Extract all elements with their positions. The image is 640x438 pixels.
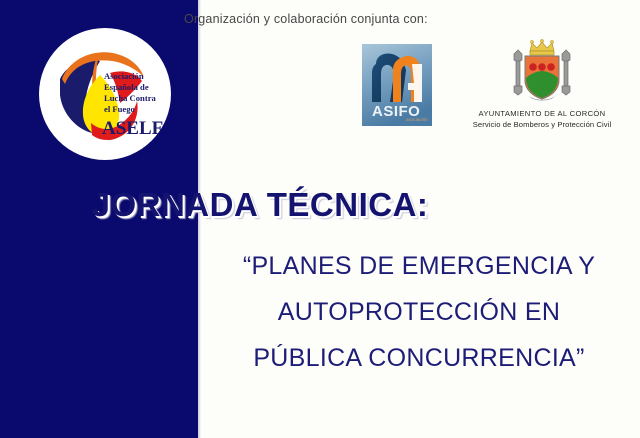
alcorcon-name: AYUNTAMIENTO DE AL CORCÓN: [452, 109, 632, 118]
alcorcon-block: AYUNTAMIENTO DE AL CORCÓN Servicio de Bo…: [452, 36, 632, 129]
svg-text:el Fuego: el Fuego: [104, 104, 135, 114]
subtitle-block: “PLANES DE EMERGENCIA Y AUTOPROTECCIÓN E…: [198, 252, 640, 373]
page-title-text: JORNADA TÉCNICA:: [92, 186, 429, 223]
svg-text:asociación: asociación: [406, 117, 428, 122]
aself-logo: Asociación Española de Lucha Contra el F…: [38, 27, 172, 161]
svg-text:Española de: Española de: [104, 82, 149, 92]
alcorcon-coat-of-arms: [505, 36, 579, 104]
organizers-label: Organización y colaboración conjunta con…: [184, 12, 428, 26]
asifo-logo: ASIFO asociación: [362, 44, 432, 126]
alcorcon-service: Servicio de Bomberos y Protección Civil: [452, 120, 632, 129]
svg-text:Asociación: Asociación: [104, 71, 144, 81]
subtitle-line-3: PÚBLICA CONCURRENCIA”: [198, 344, 640, 373]
page-title: JORNADA TÉCNICA:: [0, 186, 640, 224]
subtitle-line-2: AUTOPROTECCIÓN EN: [198, 298, 640, 327]
subtitle-line-1: “PLANES DE EMERGENCIA Y: [198, 252, 640, 281]
svg-text:Lucha Contra: Lucha Contra: [104, 93, 157, 103]
svg-text:ASELF: ASELF: [102, 118, 163, 139]
presentation-slide: Asociación Española de Lucha Contra el F…: [0, 0, 640, 438]
